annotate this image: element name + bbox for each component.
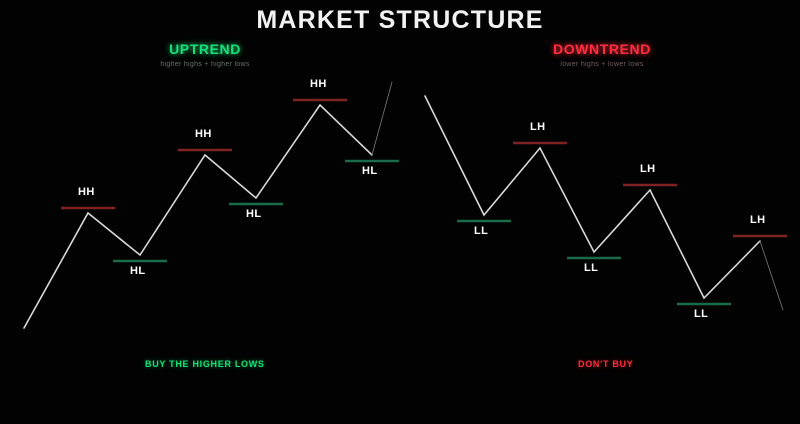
swing-label-hl: HL xyxy=(130,265,145,277)
swing-label-lh: LH xyxy=(750,214,765,226)
diagram-canvas: MARKET STRUCTURE UPTREND higher highs + … xyxy=(0,0,800,424)
swing-label-hh: HH xyxy=(195,128,212,140)
swing-label-hl: HL xyxy=(362,165,377,177)
swing-label-hh: HH xyxy=(78,186,95,198)
swing-label-ll: LL xyxy=(584,262,598,274)
swing-label-hl: HL xyxy=(246,208,261,220)
swing-label-hh: HH xyxy=(310,78,327,90)
downtrend-footer: DON'T BUY xyxy=(578,359,633,369)
swing-label-lh: LH xyxy=(640,163,655,175)
continuation-layer xyxy=(372,82,783,310)
price-path-layer xyxy=(24,96,760,328)
swing-label-ll: LL xyxy=(694,308,708,320)
swing-label-lh: LH xyxy=(530,121,545,133)
swing-label-ll: LL xyxy=(474,225,488,237)
market-structure-chart xyxy=(0,0,800,424)
swing-level-lines xyxy=(61,100,787,304)
uptrend-footer: BUY THE HIGHER LOWS xyxy=(145,359,265,369)
continuation-line-down xyxy=(760,241,783,310)
continuation-line-up xyxy=(372,82,392,155)
